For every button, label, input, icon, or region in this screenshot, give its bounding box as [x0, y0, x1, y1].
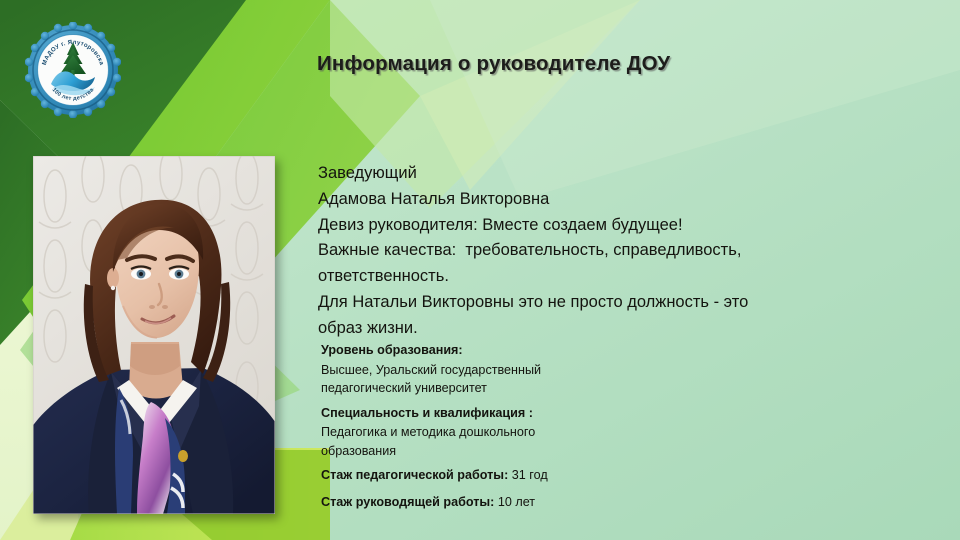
presentation-slide: МАДОУ г. Ялуторовска 100 лет детства: [0, 0, 960, 540]
intro-line: ответственность.: [318, 264, 818, 290]
director-portrait-photo: [33, 156, 275, 514]
specialty-value: Педагогика и методика дошкольного образо…: [321, 423, 751, 460]
education-level-label: Уровень образования:: [321, 341, 751, 361]
intro-line: образ жизни.: [318, 316, 818, 342]
management-experience: Стаж руководящей работы: 10 лет: [321, 492, 751, 514]
teaching-experience-label: Стаж педагогической работы:: [321, 468, 508, 482]
director-intro-text: Заведующий Адамова Наталья Викторовна Де…: [318, 161, 818, 342]
intro-line: Для Натальи Викторовны это не просто дол…: [318, 290, 818, 316]
intro-line: Адамова Наталья Викторовна: [318, 187, 818, 213]
intro-line: Важные качества: требовательность, справ…: [318, 238, 818, 264]
intro-line: Заведующий: [318, 161, 818, 187]
page-title: Информация о руководителе ДОУ: [317, 52, 670, 76]
organization-logo: МАДОУ г. Ялуторовска 100 лет детства: [25, 22, 121, 118]
director-details: Уровень образования: Высшее, Уральский г…: [321, 341, 751, 513]
management-experience-label: Стаж руководящей работы:: [321, 495, 494, 509]
teaching-experience-value: 31 год: [512, 468, 548, 482]
management-experience-value: 10 лет: [498, 495, 535, 509]
specialty-label: Специальность и квалификация :: [321, 404, 751, 424]
intro-line: Девиз руководителя: Вместе создаем будущ…: [318, 213, 818, 239]
teaching-experience: Стаж педагогической работы: 31 год: [321, 465, 751, 487]
education-level-value: Высшее, Уральский государственный педаго…: [321, 361, 751, 398]
